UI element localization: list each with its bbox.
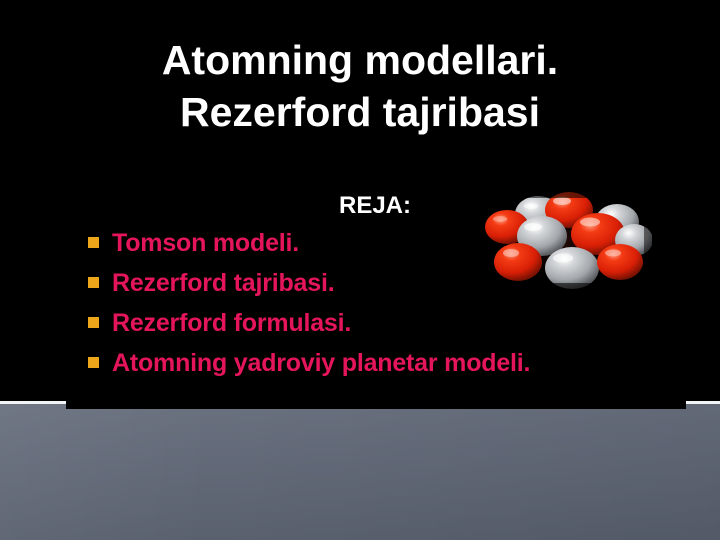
title-line-1: Atomning modellari. <box>0 34 720 86</box>
presentation-slide: Atomning modellari. Rezerford tajribasi … <box>0 0 720 540</box>
molecular-model-image <box>474 188 652 292</box>
slide-title: Atomning modellari. Rezerford tajribasi <box>0 34 720 138</box>
list-item-label: Rezerford formulasi. <box>112 304 648 342</box>
list-item: Atomning yadroviy planetar modeli. <box>88 344 648 382</box>
lower-background-panel <box>0 404 720 540</box>
list-item: Rezerford formulasi. <box>88 304 648 342</box>
square-bullet-icon <box>88 277 99 288</box>
square-bullet-icon <box>88 357 99 368</box>
title-line-2: Rezerford tajribasi <box>0 86 720 138</box>
square-bullet-icon <box>88 317 99 328</box>
list-item-label: Atomning yadroviy planetar modeli. <box>112 344 648 382</box>
square-bullet-icon <box>88 237 99 248</box>
